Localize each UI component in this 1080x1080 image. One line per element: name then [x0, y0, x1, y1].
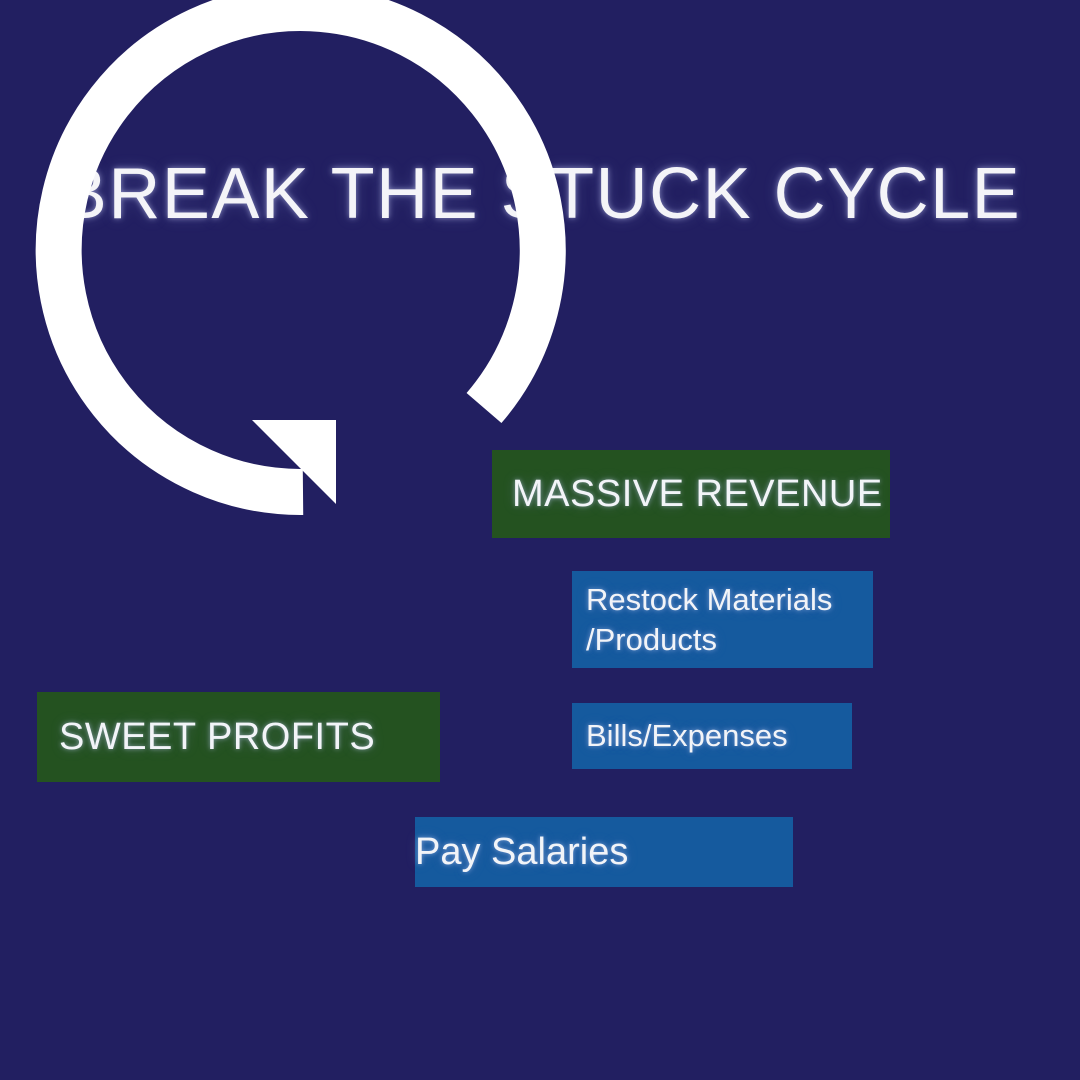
- node-pay-salaries[interactable]: Pay Salaries: [415, 817, 793, 887]
- node-pay-salaries-label: Pay Salaries: [415, 831, 793, 874]
- node-massive-revenue-label: MASSIVE REVENUE: [512, 473, 890, 516]
- node-bills-expenses-label: Bills/Expenses: [586, 718, 852, 754]
- page-title: BREAK THE STUCK CYCLE: [0, 158, 1080, 230]
- node-restock-materials-label: Restock Materials /Products: [586, 580, 873, 659]
- cycle-arrow-ring: [59, 8, 543, 492]
- node-sweet-profits-label: SWEET PROFITS: [59, 716, 440, 759]
- node-restock-materials[interactable]: Restock Materials /Products: [572, 571, 873, 668]
- cycle-arrow-head: [252, 420, 336, 504]
- node-bills-expenses[interactable]: Bills/Expenses: [572, 703, 852, 769]
- node-sweet-profits[interactable]: SWEET PROFITS: [37, 692, 440, 782]
- slide-canvas: BREAK THE STUCK CYCLE MASSIVE REVENUE Re…: [0, 0, 1080, 1080]
- node-massive-revenue[interactable]: MASSIVE REVENUE: [492, 450, 890, 538]
